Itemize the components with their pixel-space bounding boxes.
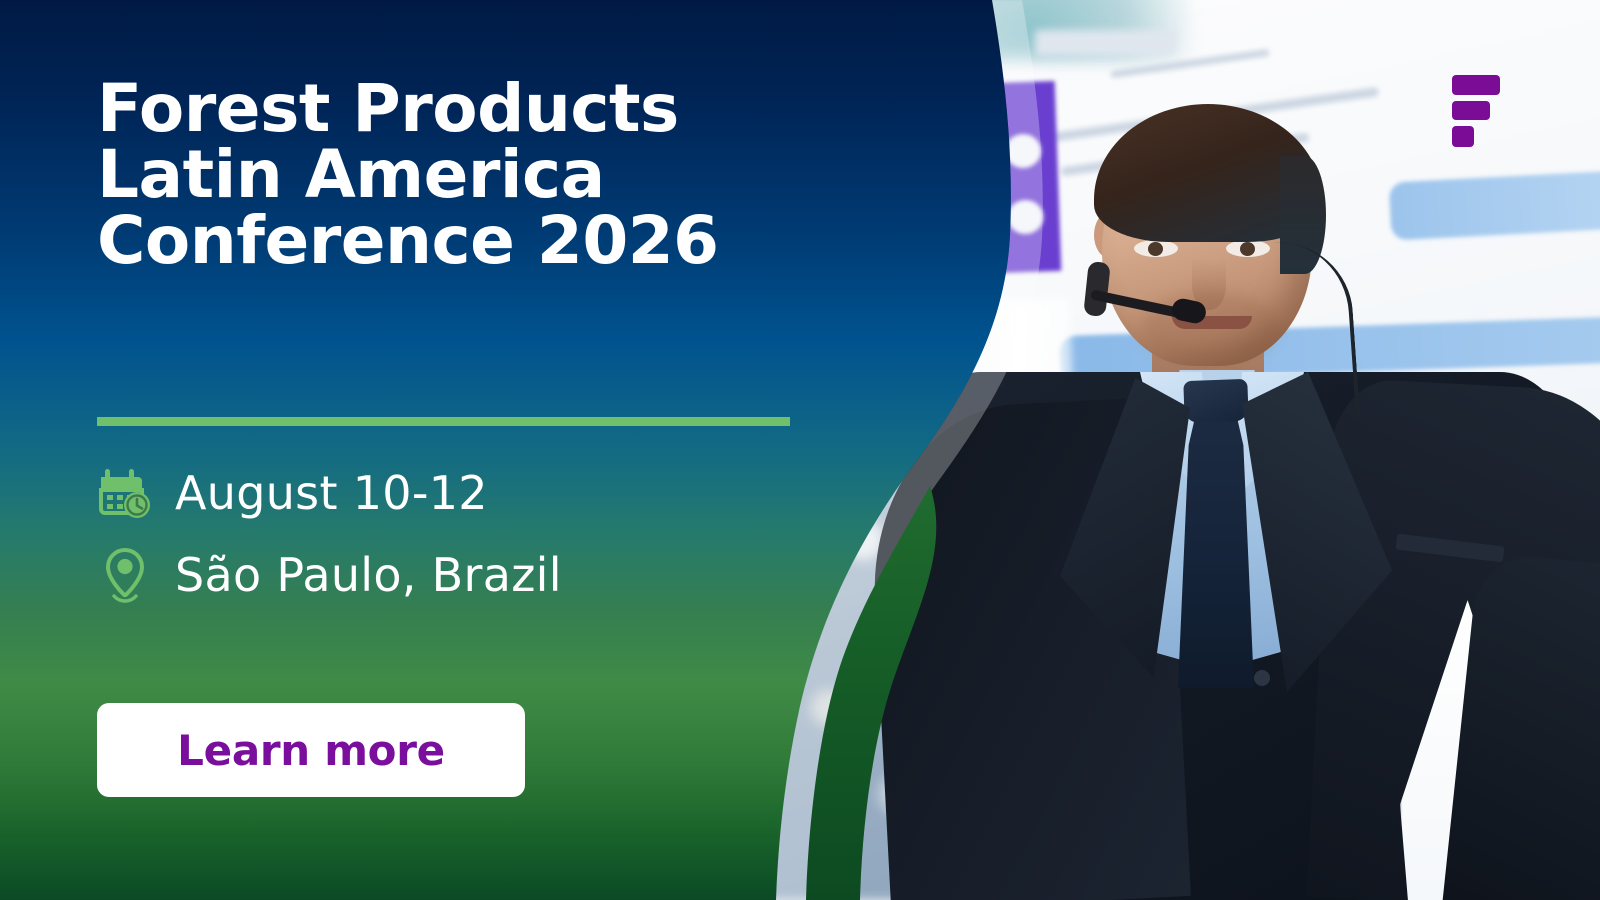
event-date-row: August 10-12 (97, 452, 562, 534)
headline-line-1: Forest Products (97, 76, 837, 142)
logo-bar-top (1452, 75, 1500, 95)
logo-bar-bottom (1452, 126, 1474, 147)
necktie-knot (1183, 379, 1248, 423)
conference-promo-banner: Forest Products Latin America Conference… (0, 0, 1600, 900)
event-date-text: August 10-12 (175, 466, 488, 520)
headset-wire (1274, 238, 1360, 423)
divider-rule (97, 417, 790, 426)
hair (1094, 104, 1322, 242)
fastmarkets-f-logo[interactable] (1452, 75, 1500, 147)
logo-bar-middle (1452, 101, 1490, 120)
map-pin-icon (97, 544, 153, 606)
eye-right (1226, 240, 1270, 257)
banner-content: Forest Products Latin America Conference… (97, 0, 857, 900)
headline-line-2: Latin America (97, 142, 837, 208)
learn-more-label: Learn more (177, 726, 445, 775)
event-location-text: São Paulo, Brazil (175, 548, 562, 602)
headset-earpiece (1083, 261, 1111, 317)
page-title: Forest Products Latin America Conference… (97, 76, 837, 274)
calendar-clock-icon (97, 462, 153, 524)
learn-more-button[interactable]: Learn more (97, 703, 525, 797)
event-details: August 10-12 São Paulo, Brazil (97, 452, 562, 616)
event-location-row: São Paulo, Brazil (97, 534, 562, 616)
suit-button (1254, 670, 1270, 686)
eye-left (1134, 240, 1178, 257)
headline-line-3: Conference 2026 (97, 208, 837, 274)
